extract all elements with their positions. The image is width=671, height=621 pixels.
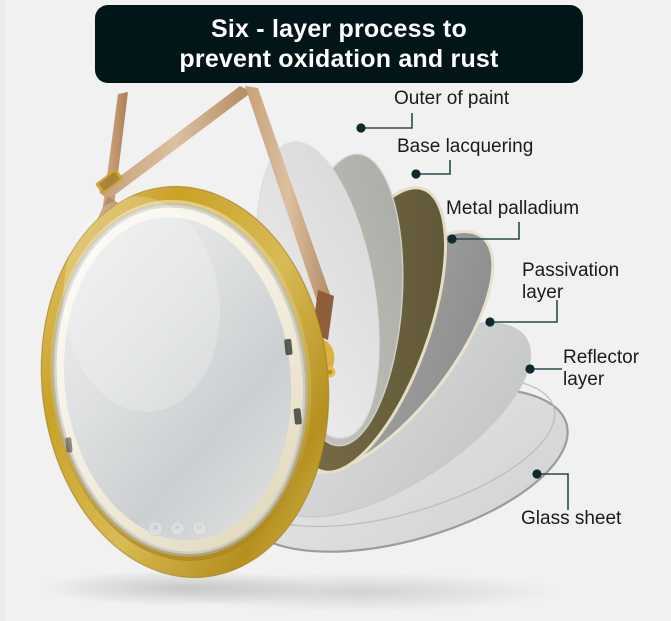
dot-reflector-layer bbox=[525, 364, 534, 373]
dot-outer-of-paint bbox=[356, 123, 365, 132]
dot-base-lacquering bbox=[411, 169, 420, 178]
connector-outer-of-paint bbox=[361, 113, 412, 128]
dot-glass-sheet bbox=[532, 469, 541, 478]
callout-connectors bbox=[0, 0, 671, 621]
dot-passivation-layer bbox=[485, 317, 494, 326]
infographic-canvas: ✻ ☀ Ⓜ Outer of paint bbox=[0, 0, 671, 621]
connector-metal-palladium bbox=[452, 222, 519, 239]
title-line-1: Six - layer process to bbox=[211, 15, 467, 43]
connector-base-lacquering bbox=[416, 160, 450, 174]
title-text: Six - layer process to prevent oxidation… bbox=[169, 14, 508, 74]
title-banner: Six - layer process to prevent oxidation… bbox=[95, 5, 583, 83]
dot-metal-palladium bbox=[447, 234, 456, 243]
connector-passivation-layer bbox=[490, 300, 557, 322]
title-line-2: prevent oxidation and rust bbox=[179, 44, 498, 74]
connector-glass-sheet bbox=[537, 474, 568, 510]
